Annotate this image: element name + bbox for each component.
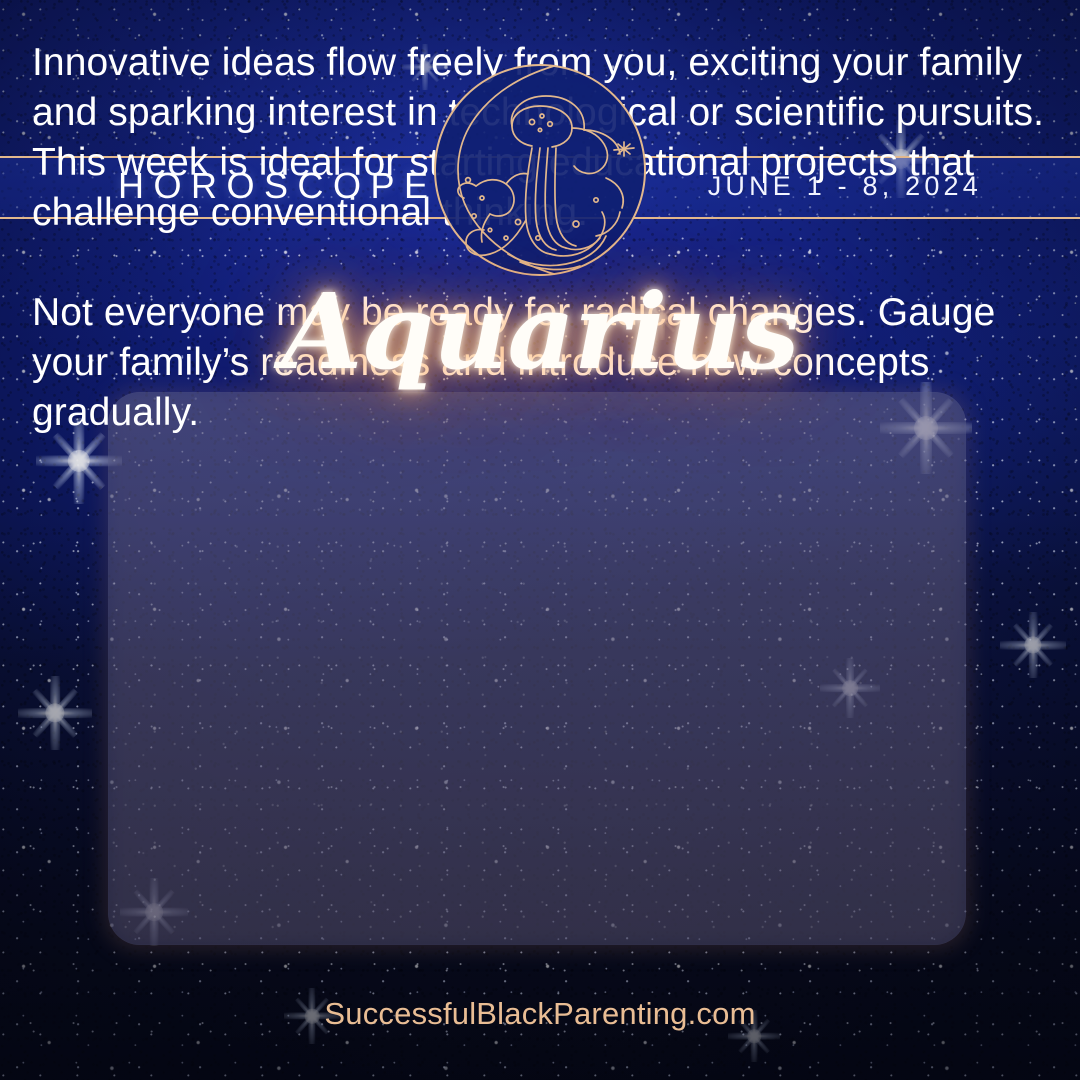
- reading-card: [108, 392, 966, 945]
- reading-card-texture: [108, 392, 966, 945]
- date-range-label: JUNE 1 - 8, 2024: [708, 160, 982, 212]
- sparkle-star: [1000, 612, 1066, 678]
- page-title: HOROSCOPE: [118, 160, 438, 212]
- website-label: SuccessfulBlackParenting.com: [0, 996, 1080, 1032]
- sparkle-star: [18, 676, 92, 750]
- aquarius-water-bearer-icon: [428, 58, 652, 282]
- horoscope-poster: HOROSCOPE JUNE 1 - 8, 2024: [0, 0, 1080, 1080]
- zodiac-sign-name: Aquarius: [0, 272, 1080, 392]
